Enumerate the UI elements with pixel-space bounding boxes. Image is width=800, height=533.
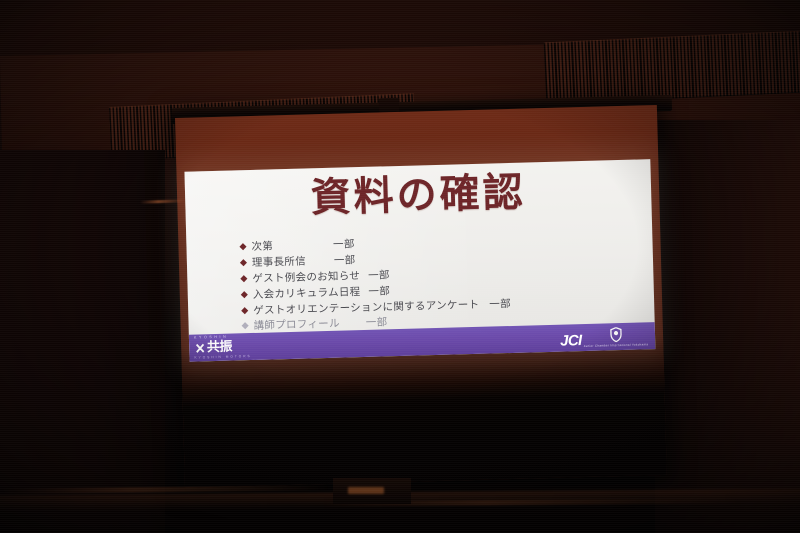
- bullet-count: 一部: [366, 318, 388, 329]
- diamond-bullet-icon: [241, 307, 248, 314]
- right-wall-shadow: [655, 120, 800, 533]
- screenshot-stage: 資料の確認 次第 一部 理事長所信 一部 ゲスト例会のお知らせ 一部: [0, 0, 800, 533]
- jci-pin-icon: [610, 326, 622, 341]
- bullet-label: ゲストオリエンテーションに関するアンケート: [253, 299, 479, 316]
- bullet-label: ゲスト例会のお知らせ: [252, 271, 360, 284]
- ceiling-vent-right: [544, 30, 800, 105]
- kyoshin-x-mark-icon: ✕: [195, 341, 206, 355]
- projector-screen: 資料の確認 次第 一部 理事長所信 一部 ゲスト例会のお知らせ 一部: [175, 105, 667, 488]
- kyoshin-logo-main: ✕ 共振: [194, 340, 252, 356]
- podium-light-glow: [348, 487, 384, 494]
- diamond-bullet-icon: [239, 243, 246, 250]
- bullet-count: 一部: [334, 255, 356, 266]
- bullet-label: 理事長所信: [252, 256, 306, 268]
- jci-logo: JCI Junior Chamber International Yokoham…: [560, 326, 649, 348]
- kyoshin-logo: KYOSHIN ✕ 共振 KYOSHIN MOTORS: [194, 335, 252, 360]
- left-wall-shadow: [0, 150, 165, 533]
- diamond-bullet-icon: [241, 291, 248, 298]
- bullet-count: 一部: [368, 270, 390, 281]
- diamond-bullet-icon: [242, 323, 249, 330]
- bullet-count: 一部: [489, 299, 511, 310]
- jci-logo-word: JCI: [560, 333, 582, 349]
- projected-slide: 資料の確認 次第 一部 理事長所信 一部 ゲスト例会のお知らせ 一部: [184, 159, 655, 362]
- kyoshin-logo-word: 共振: [207, 341, 232, 355]
- diamond-bullet-icon: [240, 275, 247, 282]
- jci-pin-wrap: Junior Chamber International Yokohama: [583, 326, 648, 348]
- jci-logo-subtitle: Junior Chamber International Yokohama: [584, 342, 649, 348]
- diamond-bullet-icon: [240, 259, 247, 266]
- slide-title: 資料の確認: [185, 169, 652, 222]
- bullet-count: 一部: [333, 239, 355, 250]
- bullet-label: 次第: [251, 241, 273, 252]
- bullet-count: 一部: [368, 286, 390, 297]
- bullet-label: 入会カリキュラム日程: [253, 287, 361, 300]
